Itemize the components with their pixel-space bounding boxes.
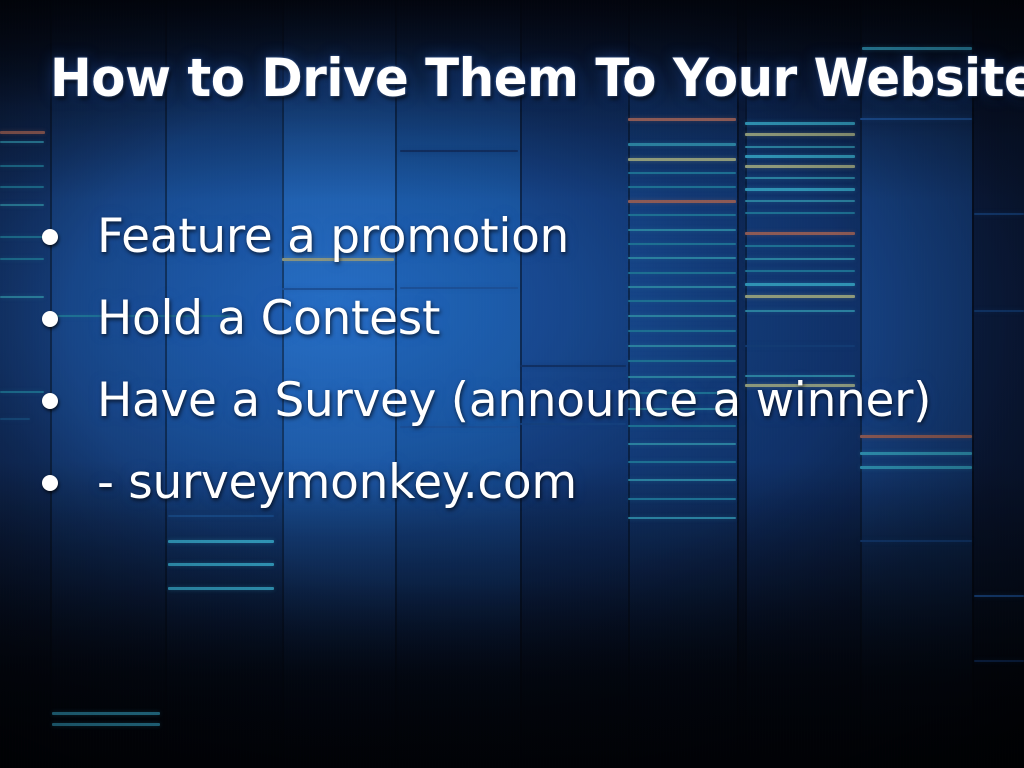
bullet-item-label: Feature a promotion (97, 211, 569, 263)
bullet-point-icon (42, 229, 58, 245)
bullet-item-label: - surveymonkey.com (97, 457, 577, 509)
bullet-item: - surveymonkey.com (34, 442, 994, 524)
presentation-slide: How to Drive Them To Your Website Featur… (0, 0, 1024, 768)
bullet-point-icon (42, 475, 58, 491)
bullet-item: Hold a Contest (34, 278, 994, 360)
slide-title: How to Drive Them To Your Website (50, 50, 934, 108)
bullet-point-icon (42, 393, 58, 409)
bullet-item: Feature a promotion (34, 196, 994, 278)
bullet-list: Feature a promotionHold a ContestHave a … (34, 196, 994, 524)
bullet-item-label: Hold a Contest (97, 293, 440, 345)
bullet-item: Have a Survey (announce a winner) (34, 360, 994, 442)
bullet-point-icon (42, 311, 58, 327)
bullet-item-label: Have a Survey (announce a winner) (97, 375, 931, 427)
